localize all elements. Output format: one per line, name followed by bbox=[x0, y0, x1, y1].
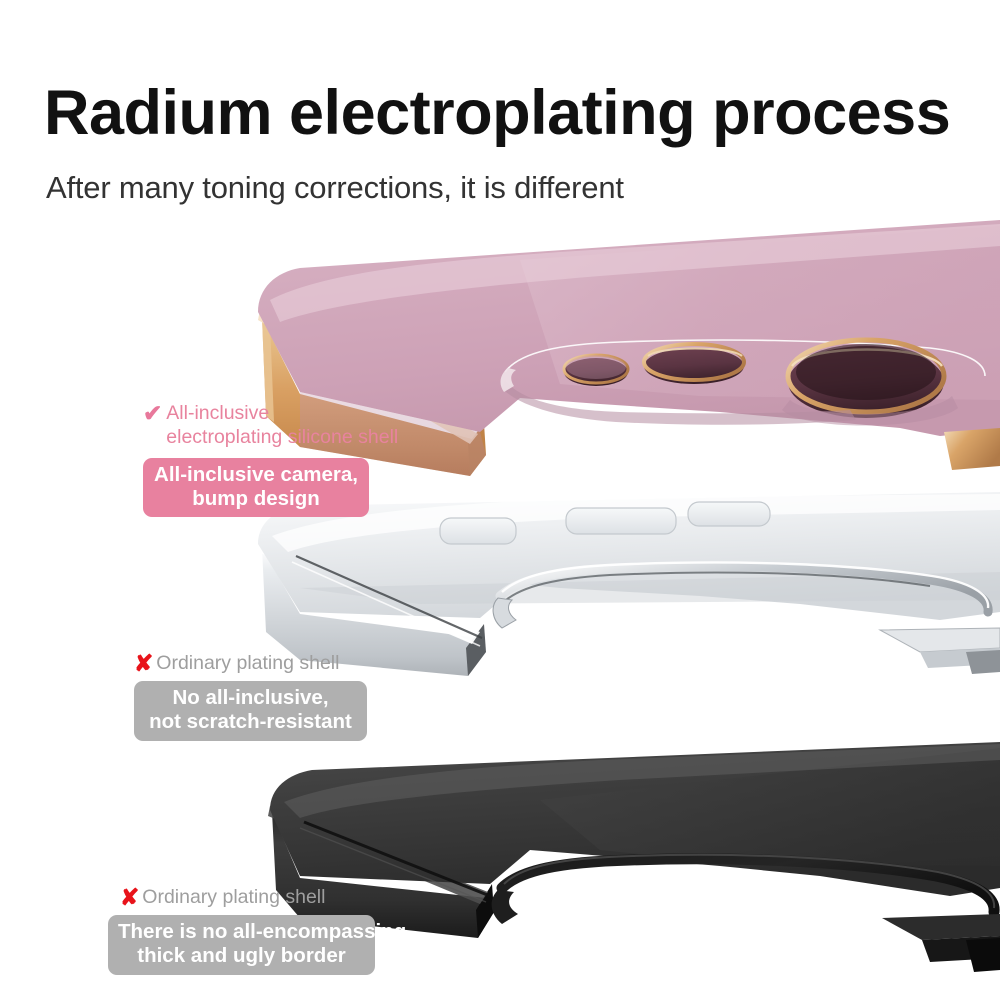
annotation-badge-line1: All-inclusive camera, bbox=[154, 463, 358, 486]
annotation-title-line2: electroplating silicone shell bbox=[166, 426, 398, 448]
annotation-badge-line1: There is no all-encompassing bbox=[118, 920, 406, 943]
annotation-head: ✔ All-inclusive electroplating silicone … bbox=[143, 401, 398, 450]
annotation-badge-line2: not scratch-resistant bbox=[149, 710, 352, 733]
annotation-badge: No all-inclusive, not scratch-resistant bbox=[134, 681, 367, 741]
cross-icon: ✘ bbox=[120, 885, 138, 909]
annotation-head: ✘ Ordinary plating shell bbox=[134, 651, 367, 675]
annotation-ordinary-plating-no-all-inclusive: ✘ Ordinary plating shell No all-inclusiv… bbox=[134, 651, 367, 741]
check-icon: ✔ bbox=[143, 401, 162, 425]
camera-cutout-oval bbox=[644, 344, 744, 384]
page-subtitle: After many toning corrections, it is dif… bbox=[46, 172, 986, 203]
camera-cutout-small bbox=[564, 355, 628, 386]
annotation-badge-line2: thick and ugly border bbox=[137, 944, 345, 967]
annotation-badge: There is no all-encompassing thick and u… bbox=[108, 915, 375, 975]
annotation-badge-line2: bump design bbox=[192, 487, 320, 510]
clear-ordinary-case bbox=[258, 492, 1000, 676]
annotation-title: All-inclusive electroplating silicone sh… bbox=[166, 401, 398, 450]
annotation-badge-line1: No all-inclusive, bbox=[172, 686, 328, 709]
page-title: Radium electroplating process bbox=[44, 82, 984, 145]
annotation-title-line1: All-inclusive bbox=[166, 402, 269, 424]
annotation-all-inclusive-electroplating: ✔ All-inclusive electroplating silicone … bbox=[143, 401, 398, 517]
annotation-head: ✘ Ordinary plating shell bbox=[120, 885, 375, 909]
annotation-badge: All-inclusive camera, bump design bbox=[143, 458, 369, 518]
camera-cutout-large bbox=[788, 340, 944, 418]
cross-icon: ✘ bbox=[134, 651, 152, 675]
annotation-title: Ordinary plating shell bbox=[142, 885, 325, 909]
annotation-title: Ordinary plating shell bbox=[156, 651, 339, 675]
annotation-ordinary-plating-thick-border: ✘ Ordinary plating shell There is no all… bbox=[120, 885, 375, 975]
